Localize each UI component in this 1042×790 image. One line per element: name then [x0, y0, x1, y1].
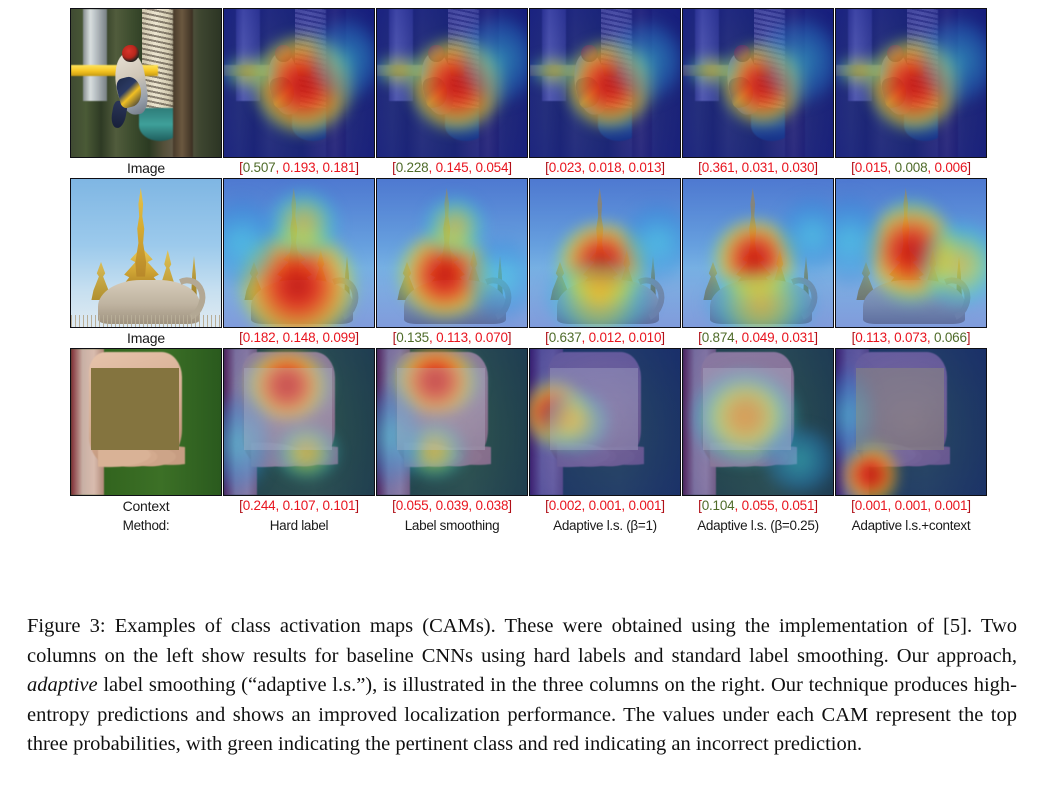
probability-value: 0.101: [323, 498, 356, 513]
method-label-adaptive-context: Adaptive l.s.+context: [836, 518, 986, 533]
probability-value: 0.001: [895, 498, 928, 513]
probability-value: 0.055: [396, 498, 429, 513]
probability-value: 0.099: [323, 330, 356, 345]
probability-value: 0.002: [549, 498, 582, 513]
cell-temple-hard-label: [0.182, 0.148, 0.099]: [224, 179, 374, 349]
image-temple-original: [71, 179, 221, 327]
method-row-title: Method:: [71, 518, 221, 533]
figure-caption-part1: Examples of class activation maps (CAMs)…: [27, 615, 1017, 667]
image-bird-original: [71, 9, 221, 157]
cam-hand-adaptive-b025: [683, 349, 833, 495]
cam-temple-adaptive-b025: [683, 179, 833, 327]
cam-values-hand-4: [0.001, 0.001, 0.001]: [836, 495, 986, 517]
row-source-label-hand: Context: [71, 495, 221, 517]
probability-value: 0.113: [436, 330, 468, 345]
cell-hand-adaptive-context: [0.001, 0.001, 0.001]: [836, 349, 986, 517]
cell-bird-hard-label: [0.507, 0.193, 0.181]: [224, 9, 374, 179]
cam-values-bird-2: [0.023, 0.018, 0.013]: [530, 157, 680, 179]
cam-hand-hard-label: [224, 349, 374, 495]
cam-values-hand-2: [0.002, 0.001, 0.001]: [530, 495, 680, 517]
probability-value: 0.113: [855, 330, 887, 345]
cam-hand-label-smoothing: [377, 349, 527, 495]
probability-value: 0.023: [549, 160, 582, 175]
probability-value: 0.637: [549, 330, 582, 345]
occlusion-rectangle: [91, 368, 180, 450]
cam-values-temple-1: [0.135, 0.113, 0.070]: [377, 327, 527, 349]
cell-bird-adaptive-context: [0.015, 0.008, 0.006]: [836, 9, 986, 179]
cell-bird-label-smoothing: [0.228, 0.145, 0.054]: [377, 9, 527, 179]
cam-temple-adaptive-context: [836, 179, 986, 327]
figure-caption: Figure 3: Examples of class activation m…: [27, 612, 1017, 760]
cam-values-temple-2: [0.637, 0.012, 0.010]: [530, 327, 680, 349]
probability-value: 0.507: [243, 160, 276, 175]
cam-temple-hard-label: [224, 179, 374, 327]
probability-value: 0.012: [589, 330, 622, 345]
cell-temple-adaptive-b025: [0.874, 0.049, 0.031]: [683, 179, 833, 349]
cam-values-temple-4: [0.113, 0.073, 0.066]: [836, 327, 986, 349]
cam-values-bird-4: [0.015, 0.008, 0.006]: [836, 157, 986, 179]
cam-bird-adaptive-b1: [530, 9, 680, 157]
method-label-row: Method: Hard label Label smoothing Adapt…: [71, 518, 991, 533]
figure-caption-label: Figure 3:: [27, 615, 106, 637]
figure-row-bird: Image [0.507, 0.193, 0.181]: [71, 9, 991, 179]
cam-values-temple-3: [0.874, 0.049, 0.031]: [683, 327, 833, 349]
probability-value: 0.039: [436, 498, 469, 513]
cell-bird-adaptive-b1: [0.023, 0.018, 0.013]: [530, 9, 680, 179]
probability-value: 0.073: [894, 330, 927, 345]
probability-value: 0.070: [475, 330, 508, 345]
probability-value: 0.104: [702, 498, 735, 513]
figure-row-hand: Context [0.244, 0.107, 0.101]: [71, 349, 991, 517]
probability-value: 0.010: [629, 330, 662, 345]
cam-temple-adaptive-b1: [530, 179, 680, 327]
cam-hand-adaptive-context: [836, 349, 986, 495]
probability-value: 0.031: [782, 330, 815, 345]
cam-values-hand-0: [0.244, 0.107, 0.101]: [224, 495, 374, 517]
cam-temple-label-smoothing: [377, 179, 527, 327]
probability-value: 0.228: [396, 160, 429, 175]
probability-value: 0.055: [742, 498, 775, 513]
probability-value: 0.135: [396, 330, 429, 345]
probability-value: 0.054: [476, 160, 509, 175]
method-label-adaptive-b025: Adaptive l.s. (β=0.25): [683, 518, 833, 533]
cell-hand-adaptive-b1: [0.002, 0.001, 0.001]: [530, 349, 680, 517]
cam-values-bird-3: [0.361, 0.031, 0.030]: [683, 157, 833, 179]
probability-value: 0.181: [323, 160, 356, 175]
probability-value: 0.001: [629, 498, 662, 513]
cam-bird-adaptive-b025: [683, 9, 833, 157]
cam-values-temple-0: [0.182, 0.148, 0.099]: [224, 327, 374, 349]
figure-caption-emphasis: adaptive: [27, 674, 98, 696]
cell-hand-image: Context: [71, 349, 221, 517]
cell-hand-label-smoothing: [0.055, 0.039, 0.038]: [377, 349, 527, 517]
probability-value: 0.874: [702, 330, 735, 345]
cell-bird-adaptive-b025: [0.361, 0.031, 0.030]: [683, 9, 833, 179]
probability-value: 0.013: [629, 160, 662, 175]
row-source-label-bird: Image: [71, 157, 221, 179]
probability-value: 0.148: [283, 330, 316, 345]
cam-hand-adaptive-b1: [530, 349, 680, 495]
probability-value: 0.031: [742, 160, 775, 175]
cell-temple-label-smoothing: [0.135, 0.113, 0.070]: [377, 179, 527, 349]
probability-value: 0.038: [476, 498, 509, 513]
cam-values-hand-1: [0.055, 0.039, 0.038]: [377, 495, 527, 517]
probability-value: 0.193: [283, 160, 316, 175]
cell-hand-adaptive-b025: [0.104, 0.055, 0.051]: [683, 349, 833, 517]
probability-value: 0.008: [895, 160, 928, 175]
cam-bird-adaptive-context: [836, 9, 986, 157]
cam-values-bird-0: [0.507, 0.193, 0.181]: [224, 157, 374, 179]
probability-value: 0.049: [742, 330, 775, 345]
cam-values-hand-3: [0.104, 0.055, 0.051]: [683, 495, 833, 517]
row-source-label-temple: Image: [71, 327, 221, 349]
cell-hand-hard-label: [0.244, 0.107, 0.101]: [224, 349, 374, 517]
cell-temple-adaptive-b1: [0.637, 0.012, 0.010]: [530, 179, 680, 349]
figure-panel-grid: Image [0.507, 0.193, 0.181]: [71, 9, 991, 533]
probability-value: 0.145: [436, 160, 469, 175]
probability-value: 0.001: [589, 498, 622, 513]
probability-value: 0.001: [935, 498, 968, 513]
probability-value: 0.030: [782, 160, 815, 175]
cam-bird-hard-label: [224, 9, 374, 157]
cell-temple-image: Image: [71, 179, 221, 349]
probability-value: 0.001: [855, 498, 888, 513]
probability-value: 0.244: [243, 498, 276, 513]
cam-bird-label-smoothing: [377, 9, 527, 157]
image-hand-context: [71, 349, 221, 495]
cell-bird-image: Image: [71, 9, 221, 179]
figure-row-temple: Image [0.182, 0.148, 0.099]: [71, 179, 991, 349]
probability-value: 0.051: [782, 498, 815, 513]
probability-value: 0.361: [702, 160, 735, 175]
probability-value: 0.006: [935, 160, 968, 175]
cam-values-bird-1: [0.228, 0.145, 0.054]: [377, 157, 527, 179]
probability-value: 0.015: [855, 160, 888, 175]
probability-value: 0.107: [283, 498, 316, 513]
probability-value: 0.182: [243, 330, 276, 345]
figure-caption-part2: label smoothing (“adaptive l.s.”), is il…: [27, 674, 1017, 755]
cell-temple-adaptive-context: [0.113, 0.073, 0.066]: [836, 179, 986, 349]
method-label-label-smoothing: Label smoothing: [377, 518, 527, 533]
probability-value: 0.018: [589, 160, 622, 175]
method-label-adaptive-b1: Adaptive l.s. (β=1): [530, 518, 680, 533]
method-label-hard-label: Hard label: [224, 518, 374, 533]
probability-value: 0.066: [934, 330, 967, 345]
